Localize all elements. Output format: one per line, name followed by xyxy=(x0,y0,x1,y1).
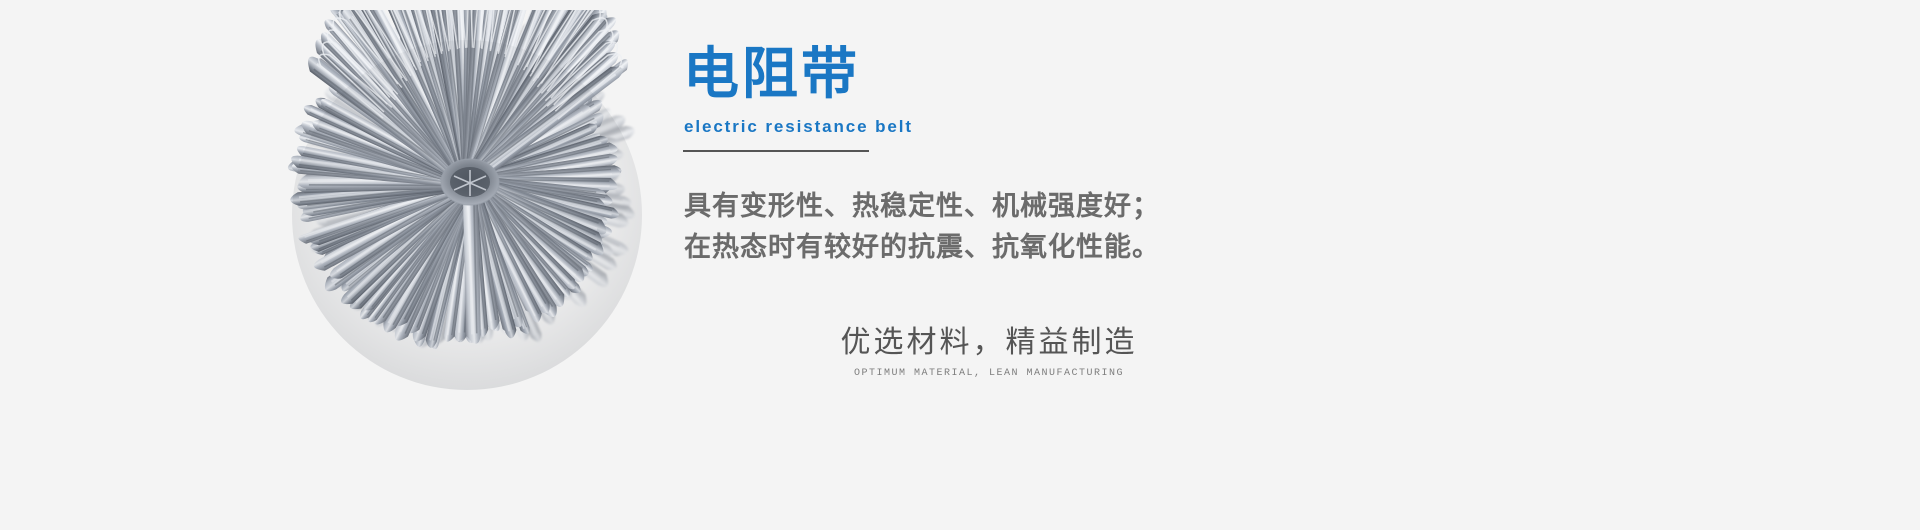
electric-resistance-belt-coil-photo xyxy=(255,10,685,430)
page-subtitle: electric resistance belt xyxy=(684,116,913,138)
title-divider xyxy=(683,150,869,152)
page-title: 电阻带 xyxy=(683,42,860,106)
product-banner: 电阻带 electric resistance belt 具有变形性、热稳定性、… xyxy=(0,0,1920,530)
slogan-block: 优选材料，精益制造 OPTIMUM MATERIAL, LEAN MANUFAC… xyxy=(779,322,1199,381)
feature-description-line-2: 在热态时有较好的抗震、抗氧化性能。 xyxy=(684,227,1160,268)
feature-description: 具有变形性、热稳定性、机械强度好； 在热态时有较好的抗震、抗氧化性能。 xyxy=(684,186,1160,268)
info-panel: 电阻带 electric resistance belt 具有变形性、热稳定性、… xyxy=(683,0,1683,530)
slogan-cn: 优选材料，精益制造 xyxy=(779,322,1199,364)
slogan-en: OPTIMUM MATERIAL, LEAN MANUFACTURING xyxy=(779,367,1199,381)
feature-description-line-1: 具有变形性、热稳定性、机械强度好； xyxy=(684,186,1160,227)
product-image-stage xyxy=(255,10,685,430)
